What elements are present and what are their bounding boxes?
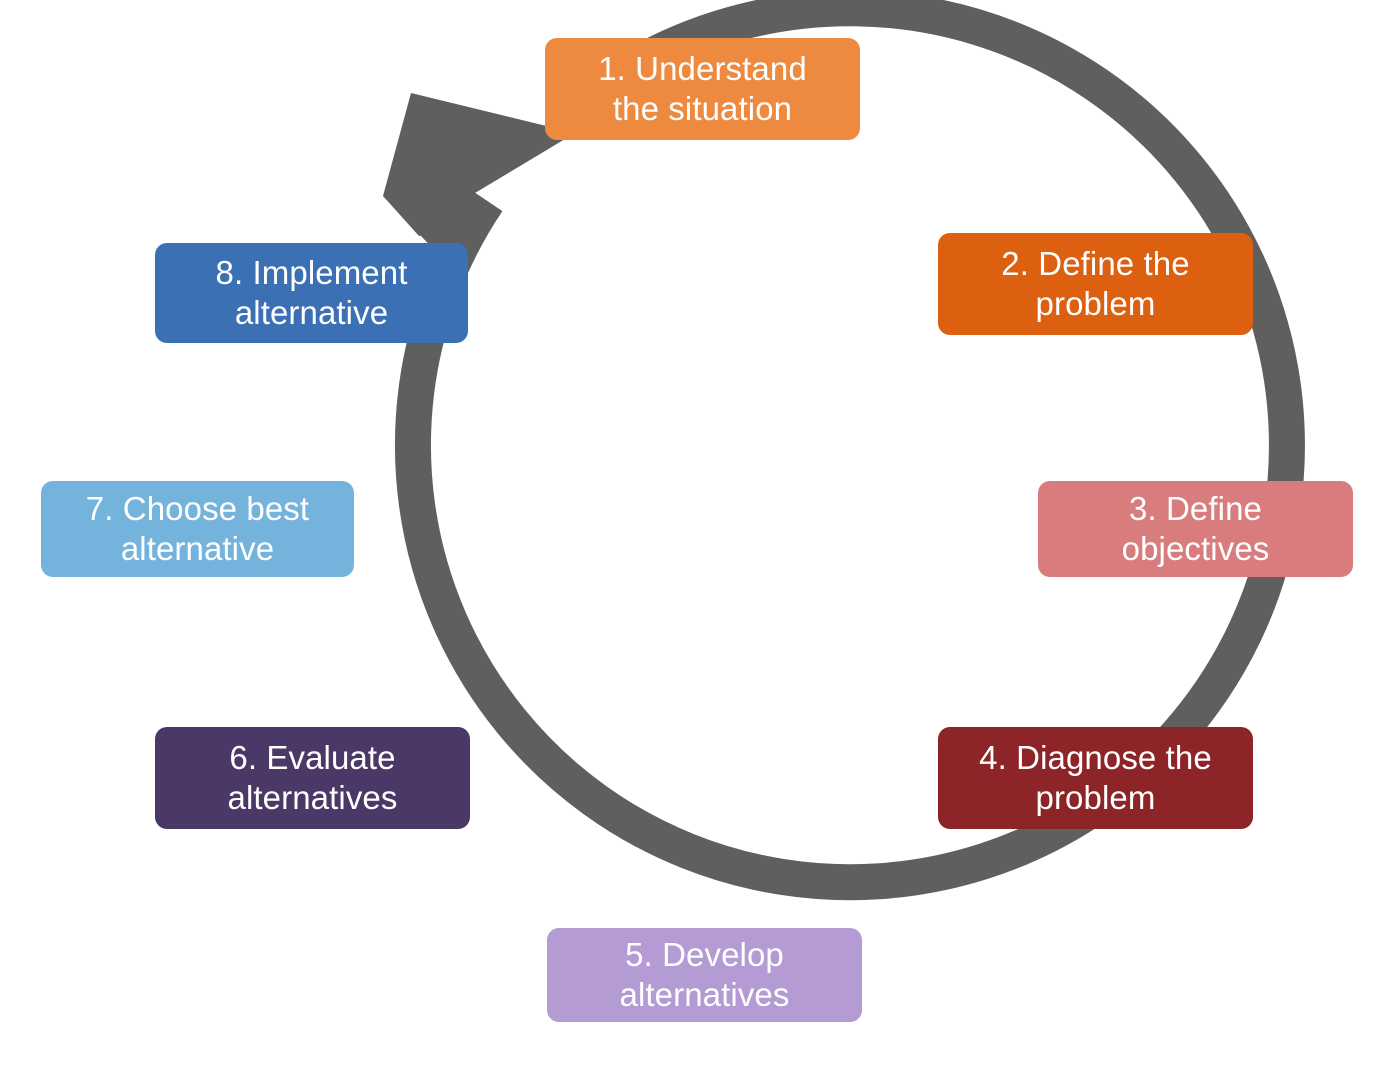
step-node-4[interactable]: 4. Diagnose the problem <box>938 727 1253 829</box>
step-node-3[interactable]: 3. Define objectives <box>1038 481 1353 577</box>
step-node-7[interactable]: 7. Choose best alternative <box>41 481 354 577</box>
step-node-2[interactable]: 2. Define the problem <box>938 233 1253 335</box>
diagram-canvas: 1. Understand the situation 2. Define th… <box>0 0 1400 1078</box>
step-node-5[interactable]: 5. Develop alternatives <box>547 928 862 1022</box>
step-node-6[interactable]: 6. Evaluate alternatives <box>155 727 470 829</box>
step-node-1[interactable]: 1. Understand the situation <box>545 38 860 140</box>
step-node-8[interactable]: 8. Implement alternative <box>155 243 468 343</box>
